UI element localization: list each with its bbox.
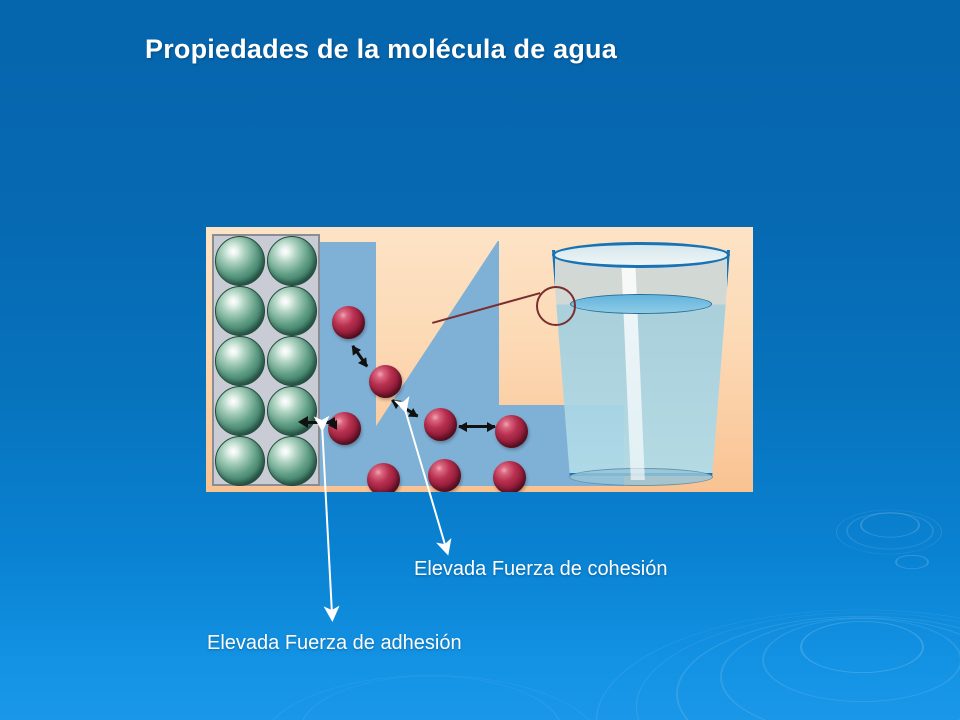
solid-atom [215, 386, 265, 436]
adhesion-arrow-shaft [306, 421, 332, 424]
page-title: Propiedades de la molécula de agua [145, 34, 825, 65]
glass-of-water [544, 242, 740, 487]
glass-rim [552, 242, 730, 268]
solid-atom [267, 436, 317, 486]
water-molecule [493, 461, 526, 492]
solid-atom [215, 286, 265, 336]
solid-surface-lattice [212, 234, 320, 486]
adhesion-arrow-head [298, 416, 308, 428]
slide: Propiedades de la molécula de agua [0, 0, 960, 720]
solid-atom [267, 336, 317, 386]
water-meniscus-line [570, 294, 712, 314]
water-molecule [424, 408, 457, 441]
water-molecule [369, 365, 402, 398]
label-cohesion: Elevada Fuerza de cohesión [414, 558, 668, 581]
solid-atom [215, 336, 265, 386]
solid-atom [215, 436, 265, 486]
solid-atom [267, 286, 317, 336]
water-properties-figure [206, 227, 753, 492]
solid-atom [215, 236, 265, 286]
label-adhesion: Elevada Fuerza de adhesión [207, 632, 462, 655]
solid-atom [267, 236, 317, 286]
cohesion-arrow [459, 425, 495, 428]
water-molecule [367, 463, 400, 492]
water-molecule [428, 459, 461, 492]
water-molecule [332, 306, 365, 339]
water-molecule [495, 415, 528, 448]
solid-atom [267, 386, 317, 436]
callout-circle [536, 286, 576, 326]
